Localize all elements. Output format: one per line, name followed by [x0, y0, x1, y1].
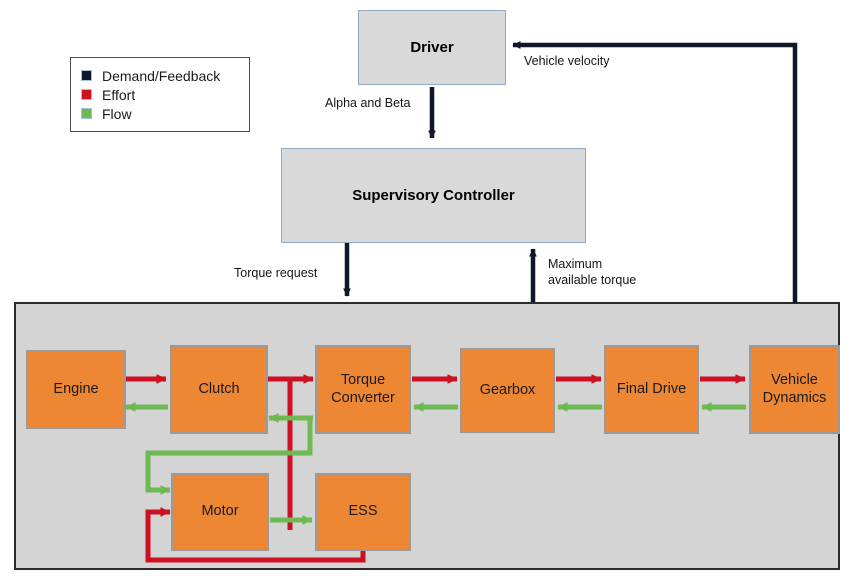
signal-legend: Demand/Feedback Effort Flow [70, 57, 250, 132]
diagram-canvas: Driver Supervisory Controller Engine Clu… [0, 0, 860, 583]
edge-label-vehicle-velocity: Vehicle velocity [524, 53, 609, 69]
legend-item-effort: Effort [81, 85, 239, 104]
legend-swatch-demand-feedback-icon [81, 70, 92, 81]
node-gearbox[interactable]: Gearbox [460, 348, 555, 433]
node-vehicle-dynamics[interactable]: Vehicle Dynamics [749, 345, 840, 434]
node-final-drive-label: Final Drive [617, 381, 686, 398]
legend-swatch-flow-icon [81, 108, 92, 119]
legend-swatch-effort-icon [81, 89, 92, 100]
legend-item-demand-feedback: Demand/Feedback [81, 66, 239, 85]
legend-label-flow: Flow [102, 106, 132, 122]
node-motor[interactable]: Motor [171, 473, 269, 551]
node-driver-label: Driver [410, 39, 453, 57]
node-engine[interactable]: Engine [26, 350, 126, 429]
legend-item-flow: Flow [81, 104, 239, 123]
node-gearbox-label: Gearbox [480, 382, 536, 399]
node-motor-label: Motor [201, 503, 238, 520]
node-supervisory-controller-label: Supervisory Controller [352, 187, 515, 205]
node-ess-label: ESS [348, 503, 377, 520]
edge-label-torque-request: Torque request [234, 265, 317, 281]
legend-label-effort: Effort [102, 87, 135, 103]
legend-label-demand-feedback: Demand/Feedback [102, 68, 220, 84]
node-torque-converter-label: Torque Converter [317, 372, 409, 406]
node-vehicle-dynamics-label: Vehicle Dynamics [751, 372, 838, 406]
node-engine-label: Engine [53, 381, 98, 398]
edge-label-maximum-available-torque: Maximum available torque [548, 256, 636, 289]
node-clutch-label: Clutch [198, 381, 239, 398]
node-torque-converter[interactable]: Torque Converter [315, 345, 411, 434]
node-clutch[interactable]: Clutch [170, 345, 268, 434]
node-ess[interactable]: ESS [315, 473, 411, 551]
edge-label-alpha-and-beta: Alpha and Beta [325, 95, 411, 111]
node-supervisory-controller[interactable]: Supervisory Controller [281, 148, 586, 243]
node-final-drive[interactable]: Final Drive [604, 345, 699, 434]
node-driver[interactable]: Driver [358, 10, 506, 85]
